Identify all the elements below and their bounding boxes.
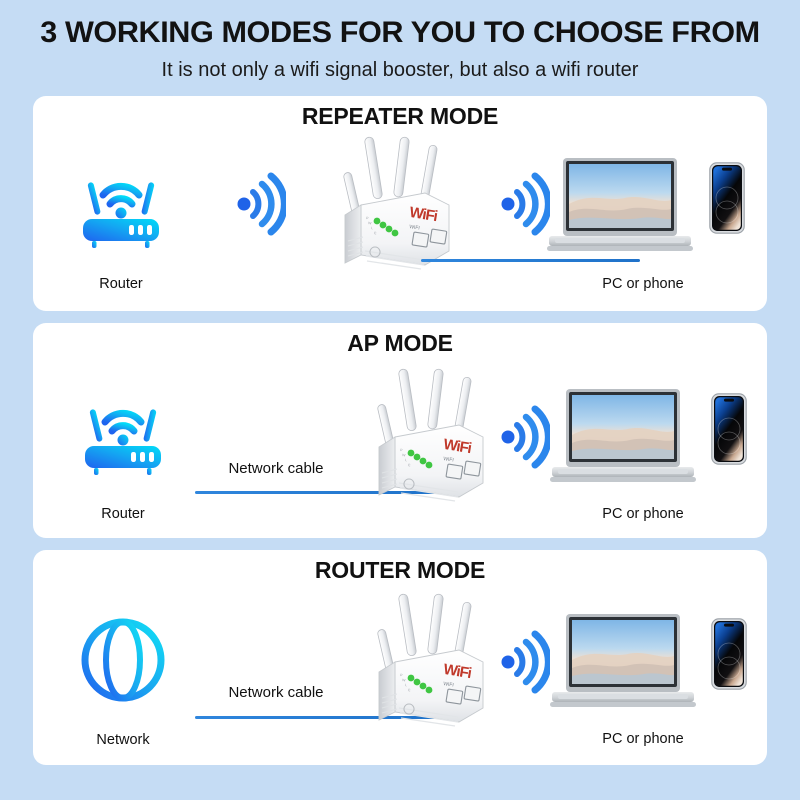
router-icon [73, 164, 169, 250]
client-label: PC or phone [578, 276, 708, 292]
wifi-signal-icon-left [224, 168, 286, 240]
wifi-signal-icon-right [488, 401, 550, 473]
panel-repeater-mode[interactable]: REPEATER MODE [33, 96, 767, 311]
laptop-icon [548, 610, 698, 722]
panel-ap-mode[interactable]: AP MODE [33, 323, 767, 538]
wifi-signal-icon-right [488, 626, 550, 698]
source-label: Network [69, 732, 177, 748]
panel-router-mode[interactable]: ROUTER MODE Network Network cable [33, 550, 767, 765]
client-label: PC or phone [578, 506, 708, 522]
page-title: 3 WORKING MODES FOR YOU TO CHOOSE FROM [0, 16, 800, 51]
source-label: Router [73, 276, 169, 292]
wifi-repeater-device: P W L E WiFi WIFI [355, 361, 495, 511]
cable-label: Network cable [196, 460, 356, 477]
wifi-repeater-device: P W L E WiFi WIFI [321, 129, 461, 279]
panel-diagram: Router [33, 96, 767, 311]
panel-diagram: Router Network cable [33, 323, 767, 538]
laptop-icon [545, 154, 695, 266]
wifi-repeater-device: P W L E WiFi WIFI [355, 586, 495, 736]
phone-icon [711, 618, 747, 690]
mode-panels: REPEATER MODE [0, 96, 800, 765]
page-header: 3 WORKING MODES FOR YOU TO CHOOSE FROM I… [0, 0, 800, 82]
phone-icon [711, 393, 747, 465]
globe-icon [81, 618, 165, 702]
panel-diagram: Network Network cable [33, 550, 767, 765]
wifi-signal-icon-right [488, 168, 550, 240]
laptop-icon [548, 385, 698, 497]
page-subtitle: It is not only a wifi signal booster, bu… [0, 59, 800, 82]
cable-label: Network cable [196, 684, 356, 701]
phone-icon [709, 162, 745, 234]
source-label: Router [75, 506, 171, 522]
client-label: PC or phone [578, 731, 708, 747]
router-icon [75, 391, 171, 477]
